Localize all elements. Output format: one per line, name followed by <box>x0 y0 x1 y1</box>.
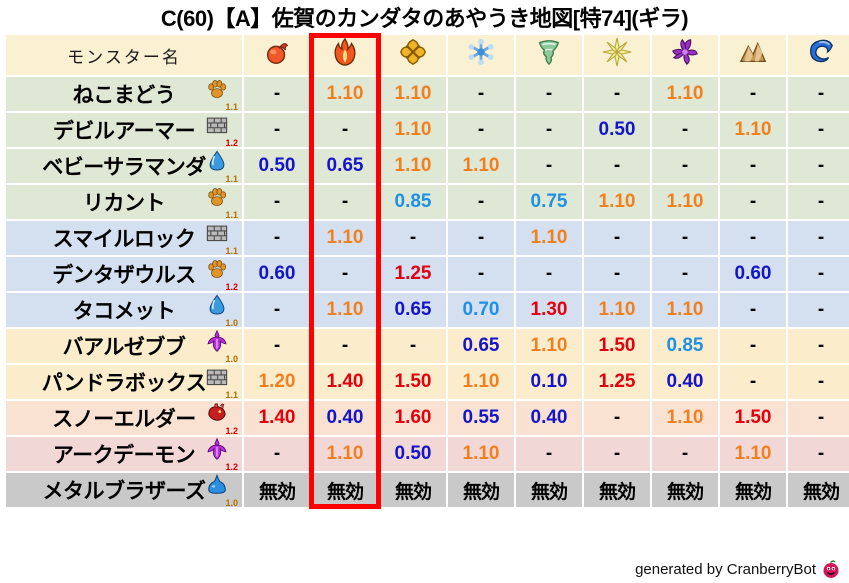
resistance-cell: 0.65 <box>312 149 378 183</box>
resistance-cell: - <box>312 113 378 147</box>
resistance-cell: - <box>448 77 514 111</box>
mera-fire-icon <box>244 37 310 73</box>
resistance-cell: 無効 <box>516 473 582 507</box>
race-level-label: 1.2 <box>225 139 238 147</box>
resistance-cell: 1.10 <box>584 185 650 219</box>
resistance-cell: 1.50 <box>584 329 650 363</box>
resistance-cell: - <box>788 185 849 219</box>
resistance-cell: 1.10 <box>652 293 718 327</box>
resistance-cell: - <box>584 149 650 183</box>
resistance-cell: - <box>720 293 786 327</box>
resistance-cell: 0.40 <box>312 401 378 435</box>
header-element-8[interactable] <box>788 35 849 75</box>
monster-name-label: アークデーモン <box>53 439 195 469</box>
resistance-cell: 1.25 <box>584 365 650 399</box>
resistance-cell: - <box>720 365 786 399</box>
race-badge: 1.0 <box>204 475 238 505</box>
monster-name-cell[interactable]: スノーエルダー1.2 <box>6 401 242 435</box>
resistance-cell: - <box>244 77 310 111</box>
race-level-label: 1.1 <box>225 247 238 255</box>
monster-name-cell[interactable]: アークデーモン1.2 <box>6 437 242 471</box>
resistance-cell: - <box>244 437 310 471</box>
resistance-cell: - <box>516 437 582 471</box>
cranberry-icon <box>821 559 841 579</box>
monster-name-label: パンドラボックス <box>42 367 206 397</box>
resistance-cell: 1.10 <box>448 149 514 183</box>
race-level-label: 1.0 <box>225 499 238 507</box>
bagi-wind-icon <box>516 37 582 73</box>
monster-name-cell[interactable]: リカント1.1 <box>6 185 242 219</box>
header-element-6[interactable] <box>652 35 718 75</box>
resistance-cell: - <box>516 77 582 111</box>
resistance-cell: - <box>448 257 514 291</box>
table-header-row: モンスター名 <box>6 35 849 75</box>
resistance-cell: - <box>448 113 514 147</box>
resistance-cell: 1.10 <box>720 113 786 147</box>
race-level-label: 1.1 <box>225 211 238 219</box>
footer-text: generated by CranberryBot <box>635 561 816 578</box>
race-badge: 1.2 <box>204 115 238 145</box>
resistance-cell: - <box>652 113 718 147</box>
resistance-cell: - <box>584 77 650 111</box>
monster-name-label: デビルアーマー <box>53 115 195 145</box>
resistance-cell: - <box>244 185 310 219</box>
race-badge: 1.1 <box>204 79 238 109</box>
table-row: リカント1.1--0.85-0.751.101.10-- <box>6 185 849 219</box>
resistance-cell: - <box>652 257 718 291</box>
monster-name-cell[interactable]: スマイルロック1.1 <box>6 221 242 255</box>
resistance-cell: 1.10 <box>652 77 718 111</box>
monster-name-cell[interactable]: タコメット1.0 <box>6 293 242 327</box>
resistance-cell: - <box>788 149 849 183</box>
jiba-earth-icon <box>720 37 786 73</box>
monster-name-label: ベビーサラマンダ <box>42 151 206 181</box>
table-row: アークデーモン1.2-1.100.501.10---1.10- <box>6 437 849 471</box>
resistance-cell: - <box>312 329 378 363</box>
dosu-water-icon <box>788 37 849 73</box>
header-element-1[interactable] <box>312 35 378 75</box>
table-row: デビルアーマー1.2--1.10--0.50-1.10- <box>6 113 849 147</box>
resistance-cell: 無効 <box>788 473 849 507</box>
race-badge: 1.1 <box>204 223 238 253</box>
header-monster-name: モンスター名 <box>6 35 242 75</box>
resistance-cell: - <box>720 329 786 363</box>
monster-name-label: スノーエルダー <box>52 403 196 433</box>
race-level-label: 1.1 <box>225 391 238 399</box>
table-row: スマイルロック1.1-1.10--1.10---- <box>6 221 849 255</box>
resistance-cell: 0.85 <box>380 185 446 219</box>
resistance-cell: 無効 <box>652 473 718 507</box>
resistance-cell: 1.40 <box>312 365 378 399</box>
resistance-cell: - <box>788 257 849 291</box>
race-badge: 1.1 <box>204 151 238 181</box>
resistance-cell: - <box>584 257 650 291</box>
resistance-cell: 1.10 <box>516 221 582 255</box>
resistance-cell: - <box>788 329 849 363</box>
resistance-cell: 1.50 <box>380 365 446 399</box>
resistance-cell: 1.10 <box>312 77 378 111</box>
resistance-cell: - <box>720 77 786 111</box>
resistance-cell: 1.25 <box>380 257 446 291</box>
table-row: パンドラボックス1.11.201.401.501.100.101.250.40-… <box>6 365 849 399</box>
resistance-cell: - <box>720 221 786 255</box>
monster-name-cell[interactable]: デンタザウルス1.2 <box>6 257 242 291</box>
monster-name-label: ねこまどう <box>73 79 176 109</box>
resistance-cell: 無効 <box>720 473 786 507</box>
resistance-cell: 1.10 <box>380 77 446 111</box>
resistance-cell: - <box>788 437 849 471</box>
resistance-cell: - <box>652 149 718 183</box>
resistance-cell: - <box>244 221 310 255</box>
race-level-label: 1.2 <box>225 283 238 291</box>
resistance-cell: - <box>312 257 378 291</box>
table-row: ベビーサラマンダ1.10.500.651.101.10----- <box>6 149 849 183</box>
monster-name-cell[interactable]: バアルゼブブ1.0 <box>6 329 242 363</box>
resistance-cell: - <box>244 329 310 363</box>
resistance-cell: 無効 <box>312 473 378 507</box>
resistance-cell: 1.10 <box>312 293 378 327</box>
monster-name-cell[interactable]: デビルアーマー1.2 <box>6 113 242 147</box>
resistance-cell: 0.50 <box>380 437 446 471</box>
header-element-7[interactable] <box>720 35 786 75</box>
resistance-cell: 1.10 <box>720 437 786 471</box>
gira-flame-icon <box>312 37 378 73</box>
resistance-cell: - <box>584 437 650 471</box>
resistance-cell: - <box>516 113 582 147</box>
table-row: メタルブラザーズ1.0無効無効無効無効無効無効無効無効無効 <box>6 473 849 507</box>
resistance-cell: 0.55 <box>448 401 514 435</box>
resistance-cell: 0.40 <box>652 365 718 399</box>
resistance-cell: - <box>788 401 849 435</box>
resistance-cell: 0.50 <box>244 149 310 183</box>
resistance-cell: - <box>516 149 582 183</box>
resistance-cell: 0.40 <box>516 401 582 435</box>
dein-light-icon <box>584 37 650 73</box>
resistance-table: モンスター名ねこまどう1.1-1.101.10---1.10--デビルアーマー1… <box>4 33 849 509</box>
resistance-cell: - <box>652 437 718 471</box>
resistance-cell: - <box>720 185 786 219</box>
header-element-5[interactable] <box>584 35 650 75</box>
hyado-ice-icon <box>448 37 514 73</box>
resistance-cell: 0.65 <box>380 293 446 327</box>
resistance-cell: 0.85 <box>652 329 718 363</box>
resistance-cell: 0.50 <box>584 113 650 147</box>
monster-name-label: メタルブラザーズ <box>43 475 206 505</box>
resistance-cell: 0.65 <box>448 329 514 363</box>
header-element-3[interactable] <box>448 35 514 75</box>
resistance-cell: 1.10 <box>652 401 718 435</box>
resistance-cell: - <box>448 185 514 219</box>
resistance-cell: 1.40 <box>244 401 310 435</box>
race-badge: 1.2 <box>204 259 238 289</box>
resistance-cell: - <box>312 185 378 219</box>
monster-name-cell[interactable]: メタルブラザーズ1.0 <box>6 473 242 507</box>
resistance-cell: 無効 <box>448 473 514 507</box>
resistance-cell: 1.10 <box>380 113 446 147</box>
resistance-cell: 0.70 <box>448 293 514 327</box>
race-badge: 1.2 <box>204 403 238 433</box>
table-row: タコメット1.0-1.100.650.701.301.101.10-- <box>6 293 849 327</box>
resistance-table-page: C(60)【A】佐賀のカンダタのあやうき地図[特74](ギラ) モンスター名ねこ… <box>0 0 849 583</box>
resistance-cell: 無効 <box>584 473 650 507</box>
resistance-cell: 1.10 <box>652 185 718 219</box>
page-title: C(60)【A】佐賀のカンダタのあやうき地図[特74](ギラ) <box>0 0 849 33</box>
resistance-cell: 無効 <box>244 473 310 507</box>
race-badge: 1.0 <box>204 295 238 325</box>
resistance-cell: 1.50 <box>720 401 786 435</box>
resistance-cell: 1.10 <box>584 293 650 327</box>
resistance-cell: 1.10 <box>448 437 514 471</box>
monster-name-cell[interactable]: パンドラボックス1.1 <box>6 365 242 399</box>
resistance-cell: - <box>652 221 718 255</box>
race-level-label: 1.1 <box>225 103 238 111</box>
resistance-cell: 0.75 <box>516 185 582 219</box>
race-badge: 1.1 <box>204 367 238 397</box>
dorama-dark-icon <box>652 37 718 73</box>
resistance-cell: 1.10 <box>312 437 378 471</box>
race-badge: 1.2 <box>204 439 238 469</box>
resistance-cell: - <box>448 221 514 255</box>
monster-name-label: スマイルロック <box>53 223 196 253</box>
monster-name-cell[interactable]: ベビーサラマンダ1.1 <box>6 149 242 183</box>
race-level-label: 1.2 <box>225 463 238 471</box>
monster-name-cell[interactable]: ねこまどう1.1 <box>6 77 242 111</box>
io-explosion-icon <box>380 37 446 73</box>
resistance-cell: 1.30 <box>516 293 582 327</box>
footer-credit: generated by CranberryBot <box>635 559 841 579</box>
table-row: スノーエルダー1.21.400.401.600.550.40-1.101.50- <box>6 401 849 435</box>
resistance-cell: - <box>788 77 849 111</box>
resistance-cell: - <box>244 293 310 327</box>
race-level-label: 1.2 <box>225 427 238 435</box>
race-badge: 1.1 <box>204 187 238 217</box>
resistance-cell: 1.10 <box>380 149 446 183</box>
resistance-cell: 1.10 <box>312 221 378 255</box>
resistance-cell: 1.20 <box>244 365 310 399</box>
resistance-cell: - <box>720 149 786 183</box>
race-level-label: 1.0 <box>225 319 238 327</box>
race-badge: 1.0 <box>204 331 238 361</box>
resistance-cell: - <box>788 365 849 399</box>
resistance-cell: - <box>788 221 849 255</box>
resistance-cell: 1.60 <box>380 401 446 435</box>
resistance-cell: 0.60 <box>244 257 310 291</box>
resistance-cell: 1.10 <box>448 365 514 399</box>
table-row: デンタザウルス1.20.60-1.25----0.60- <box>6 257 849 291</box>
header-element-0[interactable] <box>244 35 310 75</box>
monster-name-label: バアルゼブブ <box>63 331 186 361</box>
header-element-2[interactable] <box>380 35 446 75</box>
monster-name-label: リカント <box>83 187 165 217</box>
race-level-label: 1.0 <box>225 355 238 363</box>
resistance-cell: 0.60 <box>720 257 786 291</box>
resistance-cell: - <box>380 221 446 255</box>
resistance-cell: 無効 <box>380 473 446 507</box>
table-row: ねこまどう1.1-1.101.10---1.10-- <box>6 77 849 111</box>
resistance-cell: 1.10 <box>516 329 582 363</box>
header-element-4[interactable] <box>516 35 582 75</box>
resistance-cell: - <box>788 293 849 327</box>
resistance-cell: - <box>788 113 849 147</box>
resistance-cell: - <box>584 221 650 255</box>
table-row: バアルゼブブ1.0---0.651.101.500.85-- <box>6 329 849 363</box>
race-level-label: 1.1 <box>225 175 238 183</box>
resistance-cell: - <box>380 329 446 363</box>
resistance-cell: - <box>584 401 650 435</box>
resistance-cell: - <box>516 257 582 291</box>
resistance-cell: - <box>244 113 310 147</box>
resistance-cell: 0.10 <box>516 365 582 399</box>
monster-name-label: デンタザウルス <box>52 259 196 289</box>
monster-name-label: タコメット <box>73 295 176 325</box>
